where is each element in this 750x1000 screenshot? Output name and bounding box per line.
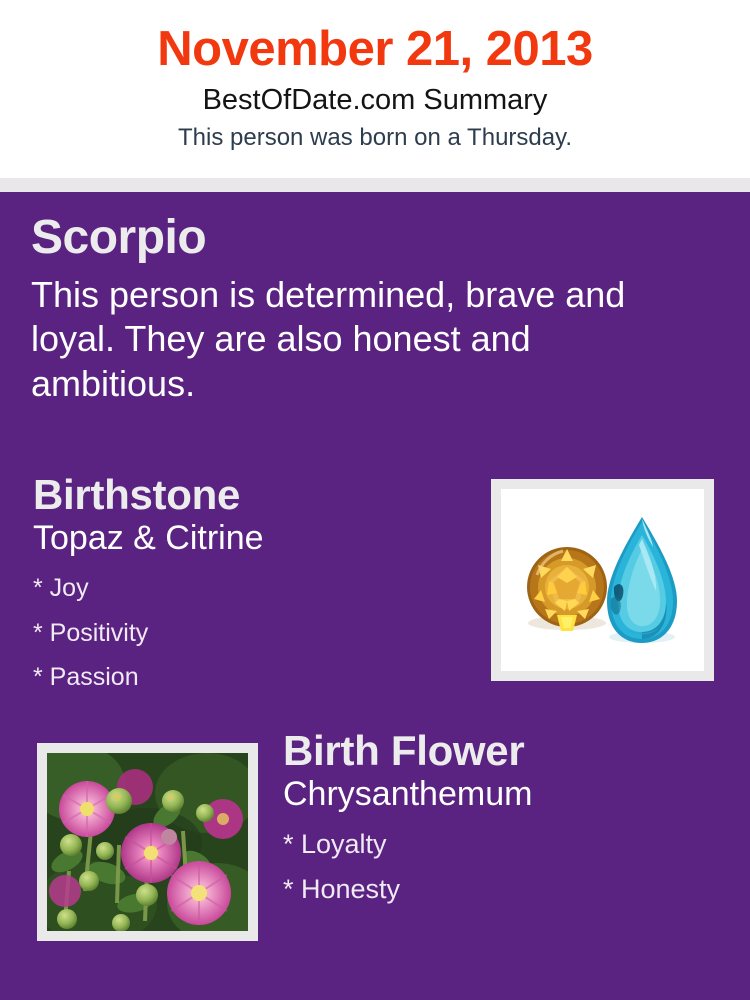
birthstone-title: Birthstone (33, 474, 473, 516)
birth-flower-image (47, 753, 248, 931)
birth-flower-trait-list: * Loyalty * Honesty (283, 813, 733, 912)
gemstones-illustration (501, 489, 704, 671)
list-item: * Positivity (33, 611, 473, 656)
list-item: * Loyalty (283, 822, 733, 867)
birthstone-trait-list: * Joy * Positivity * Passion (33, 557, 473, 700)
birthstone-names: Topaz & Citrine (33, 516, 473, 557)
birth-flower-section: Birth Flower Chrysanthemum * Loyalty * H… (283, 730, 733, 913)
birth-flower-title: Birth Flower (283, 730, 733, 772)
site-name: BestOfDate.com Summary (0, 75, 750, 117)
birth-flower-image-frame (37, 743, 258, 941)
chrysanthemum-illustration (47, 753, 248, 931)
birth-weekday-text: This person was born on a Thursday. (0, 117, 750, 151)
birthstone-image (501, 489, 704, 671)
card-header: November 21, 2013 BestOfDate.com Summary… (0, 0, 750, 178)
list-item: * Joy (33, 566, 473, 611)
page-title-date: November 21, 2013 (0, 0, 750, 75)
list-item: * Honesty (283, 867, 733, 912)
birthstone-section: Birthstone Topaz & Citrine * Joy * Posit… (33, 474, 473, 700)
zodiac-section: Scorpio This person is determined, brave… (31, 214, 711, 406)
summary-card: November 21, 2013 BestOfDate.com Summary… (0, 0, 750, 1000)
birthstone-image-frame (491, 479, 714, 681)
list-item: * Passion (33, 655, 473, 700)
birth-flower-name: Chrysanthemum (283, 772, 733, 813)
zodiac-description: This person is determined, brave and loy… (31, 262, 703, 406)
header-divider (0, 178, 750, 192)
zodiac-sign-name: Scorpio (31, 214, 711, 262)
